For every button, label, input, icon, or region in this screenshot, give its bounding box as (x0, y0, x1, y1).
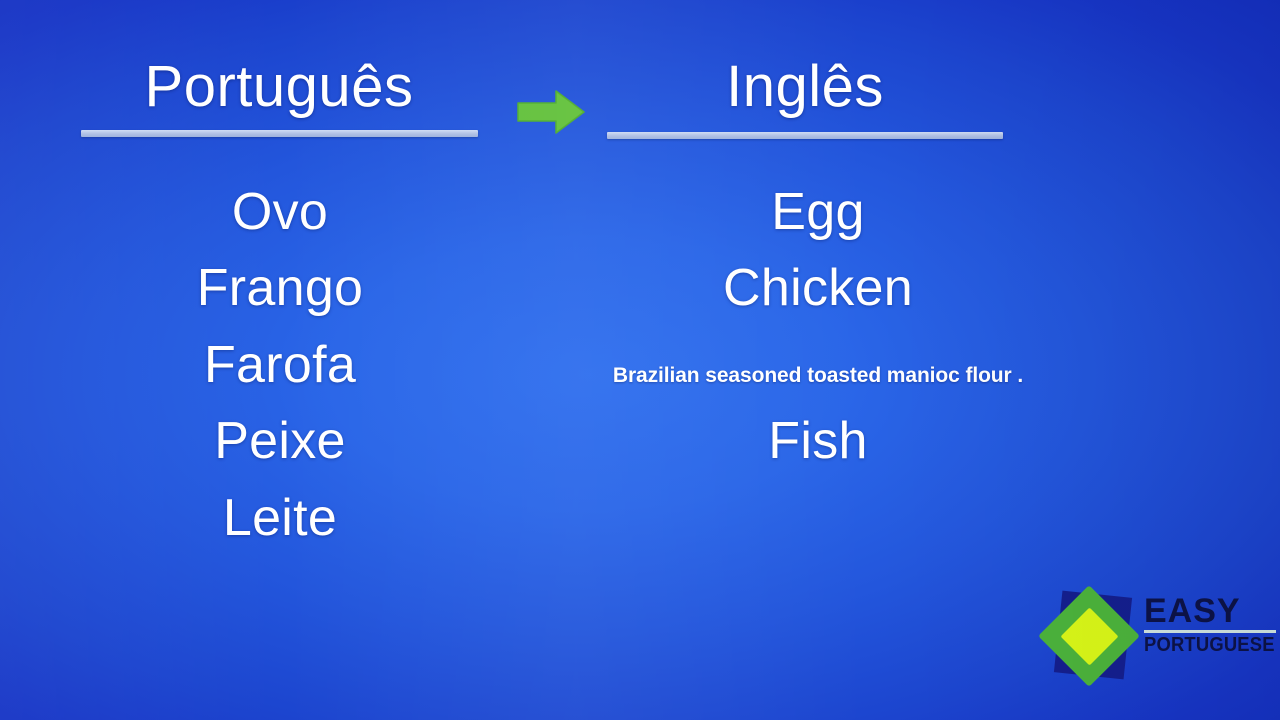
list-item: Peixe (70, 415, 490, 467)
english-word: Fish (768, 412, 867, 470)
english-word: Egg (771, 183, 864, 241)
english-definition-note: Brazilian seasoned toasted manioc flour … (613, 364, 1023, 387)
portuguese-word: Frango (197, 259, 364, 317)
english-word: Chicken (723, 259, 913, 317)
list-item: Egg (608, 186, 1028, 238)
diamond-logo-icon (1036, 580, 1148, 692)
list-item: Farofa (70, 339, 490, 391)
list-item: Leite (70, 492, 490, 544)
english-word-column: Egg Chicken Brazilian seasoned toasted m… (608, 170, 1028, 590)
source-language-title: Português (80, 58, 478, 116)
list-item: Fish (608, 415, 1028, 467)
target-language-title: Inglês (607, 58, 1003, 116)
vocabulary-slide: Português Inglês Ovo Frango Farofa Peixe… (0, 0, 1280, 720)
portuguese-word: Ovo (232, 183, 328, 241)
arrow-right-icon (516, 88, 586, 136)
language-header-row: Português Inglês (0, 0, 1280, 160)
brand-logo: EASY PORTUGUESE (1036, 578, 1280, 696)
brand-divider (1144, 630, 1276, 633)
list-item: Frango (70, 262, 490, 314)
portuguese-word: Leite (223, 489, 337, 547)
list-item: Chicken (608, 262, 1028, 314)
portuguese-word-column: Ovo Frango Farofa Peixe Leite (70, 170, 490, 590)
target-language-underline (607, 132, 1003, 139)
list-item: Brazilian seasoned toasted manioc flour … (608, 365, 1028, 386)
brand-wordmark: EASY PORTUGUESE (1144, 594, 1280, 655)
brand-name-secondary: PORTUGUESE (1144, 635, 1269, 655)
brand-name-primary: EASY (1144, 594, 1280, 628)
portuguese-word: Peixe (214, 412, 346, 470)
list-item: Ovo (70, 186, 490, 238)
source-language-underline (81, 130, 478, 137)
portuguese-word: Farofa (204, 336, 356, 394)
